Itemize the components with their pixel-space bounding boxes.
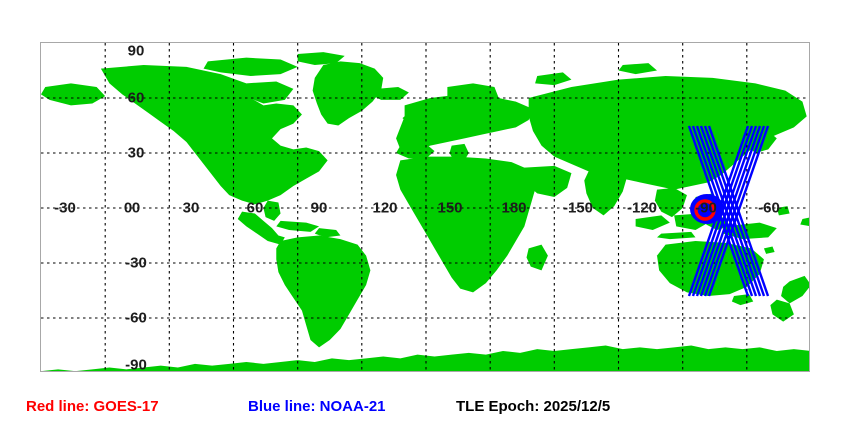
lat-tick-60: 60 (128, 91, 145, 106)
lat-tick--60: -60 (125, 311, 147, 326)
lat-tick-0: 0 (132, 201, 140, 216)
lon-tick-0: 0 (124, 201, 132, 216)
lat-tick--30: -30 (125, 256, 147, 271)
lon-tick-120: 120 (372, 201, 397, 216)
lat-tick-30: 30 (128, 146, 145, 161)
lon-tick-60: 60 (247, 201, 264, 216)
lon-tick-150: 150 (437, 201, 462, 216)
legend-tle-epoch: TLE Epoch: 2025/12/5 (456, 394, 610, 420)
lon-tick-30: 30 (183, 201, 200, 216)
lon-tick-180: 180 (501, 201, 526, 216)
lon-tick--60: -60 (758, 201, 780, 216)
lat-tick-90: 90 (128, 44, 145, 59)
lon-tick--150: -150 (563, 201, 593, 216)
lat-tick--90: -90 (125, 358, 147, 373)
world-map-panel: 90 60 30 0 -30 -60 -90 -30 0 30 60 90 12… (40, 42, 810, 372)
lon-tick--30: -30 (54, 201, 76, 216)
legend-goes17: Red line: GOES-17 (26, 394, 159, 420)
legend: Red line: GOES-17 Blue line: NOAA-21 TLE… (0, 394, 850, 420)
lon-tick--90: -90 (695, 201, 717, 216)
lon-tick--120: -120 (627, 201, 657, 216)
legend-noaa21: Blue line: NOAA-21 (248, 394, 386, 420)
lon-tick-90: 90 (311, 201, 328, 216)
